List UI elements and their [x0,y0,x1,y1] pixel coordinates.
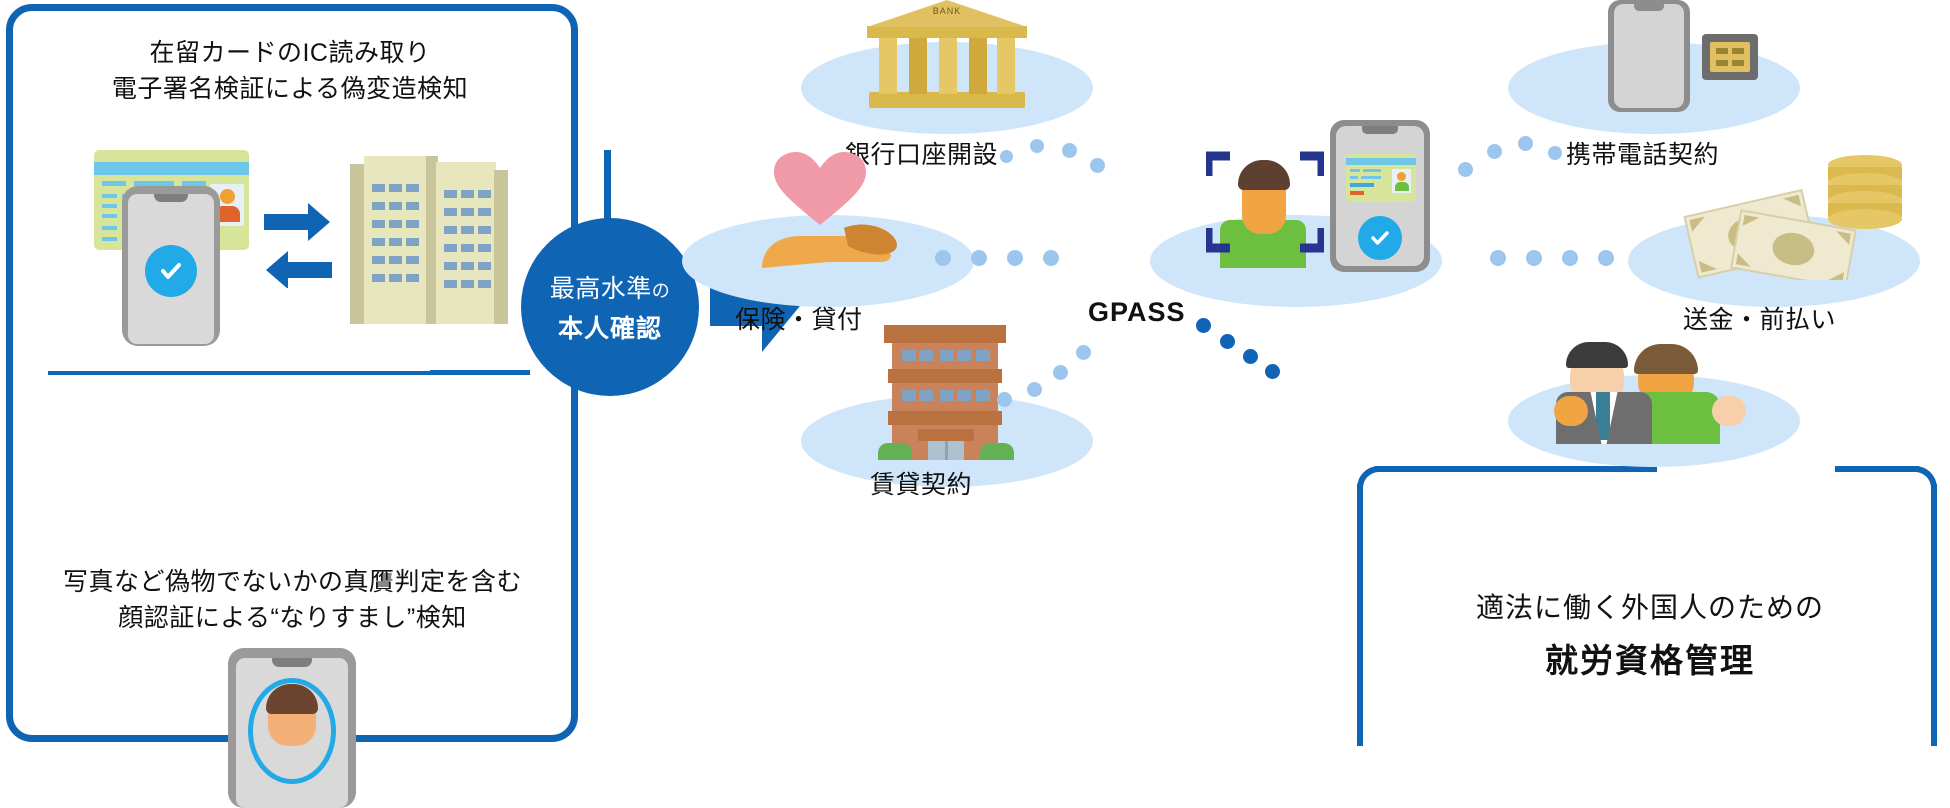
work-box-caption-line2: 就労資格管理 [1380,634,1920,682]
bank-icon: BANK [861,0,1033,110]
badge-line1: 最高水準の [550,269,671,305]
connector-dot [1518,136,1533,151]
connector-dot-active [1243,349,1258,364]
ic-read-illustration [70,140,510,330]
connector-dot [1062,143,1077,158]
residence-card-line [102,226,117,230]
badge-line2: 本人確認 [558,309,662,345]
residence-card-line [102,204,117,208]
smartphone-sim-icon [1590,0,1770,110]
work-box-caption: 適法に働く外国人のための 就労資格管理 [1380,586,1920,682]
left-bottom-caption-line1: 写真など偽物でないかの真贋判定を含む [20,565,565,601]
left-top-caption-line2: 電子署名検証による偽変造検知 [30,72,550,108]
left-panel-bottom-caption: 写真など偽物でないかの真贋判定を含む 顔認証による“なりすまし”検知 [20,565,565,636]
badge-stem-top [604,150,611,222]
left-bottom-caption-line2: 顔認証による“なりすまし”検知 [20,601,565,637]
connector-dot-active [1220,334,1235,349]
work-box-edge-left [1357,484,1363,746]
connector-dot-active [1265,364,1280,379]
connector-dot [1043,250,1059,266]
connector-dot [997,392,1012,407]
work-box-corner-tl [1357,466,1391,500]
connector-dot [1458,162,1473,177]
badge-line1-suffix: の [652,281,671,301]
work-box-edge-right [1931,484,1937,746]
infographic-canvas: 在留カードのIC読み取り 電子署名検証による偽変造検知 [0,0,1950,746]
left-panel-top-caption: 在留カードのIC読み取り 電子署名検証による偽変造検知 [30,36,550,107]
money-coins-icon [1678,155,1908,280]
exchange-arrows-icon [262,188,334,288]
connector-dot [971,250,987,266]
bank-wordmark: BANK [861,6,1033,16]
connector-dot [1526,250,1542,266]
residence-card-line [102,194,117,198]
connector-dot [1487,144,1502,159]
work-box-caption-line1: 適法に働く外国人のための [1380,586,1920,626]
residence-card-photo-head [220,189,235,204]
left-panel-divider [48,371,433,375]
connector-dot [1548,146,1562,160]
gpass-person-scan-icon [1190,150,1340,270]
connector-dot [1090,158,1105,173]
face-recognition-illustration [228,648,356,746]
residence-card-line [102,237,117,241]
verified-check-icon [145,245,197,297]
connector-dot [1598,250,1614,266]
center-badge: 最高水準の 本人確認 [521,218,699,396]
hub-label-gpass: GPASS [1088,297,1186,328]
work-box-edge-top-left [1375,466,1657,472]
node-label-insurance: 保険・貸付 [735,300,863,336]
connector-dot-active [1196,318,1211,333]
badge-line1-main: 最高水準 [550,275,652,303]
connector-dot [1007,250,1023,266]
badge-stem-left [430,370,530,375]
work-box-corner-tr [1903,466,1937,500]
connector-dot [1000,150,1013,163]
smartphone-notch [154,194,188,202]
two-workers-icon [1552,330,1767,442]
connector-dot [1027,382,1042,397]
residence-card-line [102,181,126,186]
government-building-icon [350,150,510,330]
residence-card-header [94,162,249,175]
connector-dot [1562,250,1578,266]
heart-in-hand-icon [752,150,932,280]
connector-dot [1490,250,1506,266]
left-top-caption-line1: 在留カードのIC読み取り [30,36,550,72]
gpass-phone-icon [1330,120,1440,275]
residence-card-line [102,214,117,218]
connector-dot [1030,139,1044,153]
connector-dot [1076,345,1091,360]
connector-dot [1053,365,1068,380]
node-label-rental: 賃貸契約 [870,465,972,501]
connector-dot [935,250,951,266]
face-oval-icon [248,678,336,784]
